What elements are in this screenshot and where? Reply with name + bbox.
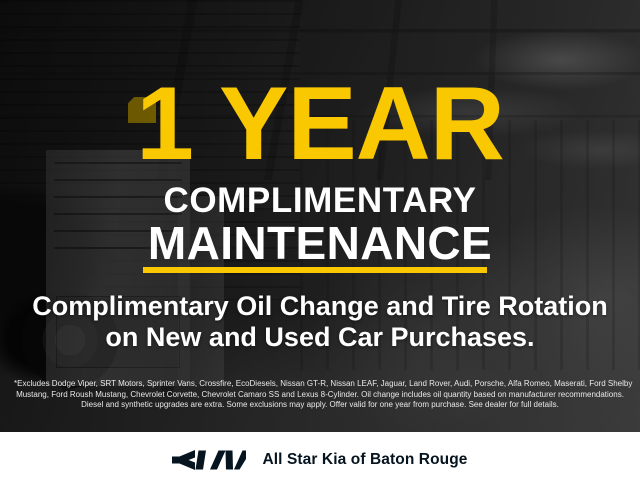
footer-bar: All Star Kia of Baton Rouge — [0, 432, 640, 488]
promotional-banner: 1 YEAR COMPLIMENTARY MAINTENANCE Complim… — [0, 0, 640, 488]
subhead-complimentary: COMPLIMENTARY — [0, 183, 640, 218]
offer-description-line-2: on New and Used Car Purchases. — [0, 322, 640, 353]
dealer-name-label: All Star Kia of Baton Rouge — [262, 451, 467, 469]
headline-one-year: 1 YEAR — [0, 72, 640, 176]
disclaimer-line-1: *Excludes Dodge Viper, SRT Motors, Sprin… — [14, 379, 626, 390]
offer-description-line-1: Complimentary Oil Change and Tire Rotati… — [0, 291, 640, 322]
yellow-divider-rule — [143, 267, 487, 273]
disclaimer-line-2: Mustang, Ford Roush Mustang, Chevrolet C… — [14, 390, 626, 401]
hero-section: 1 YEAR COMPLIMENTARY MAINTENANCE Complim… — [0, 0, 640, 432]
hero-copy: 1 YEAR COMPLIMENTARY MAINTENANCE Complim… — [0, 0, 640, 432]
kia-logo — [172, 449, 246, 471]
subhead-maintenance: MAINTENANCE — [0, 220, 640, 266]
disclaimer-fine-print: *Excludes Dodge Viper, SRT Motors, Sprin… — [14, 379, 626, 411]
disclaimer-line-3: Diesel and synthetic upgrades are extra.… — [14, 400, 626, 411]
